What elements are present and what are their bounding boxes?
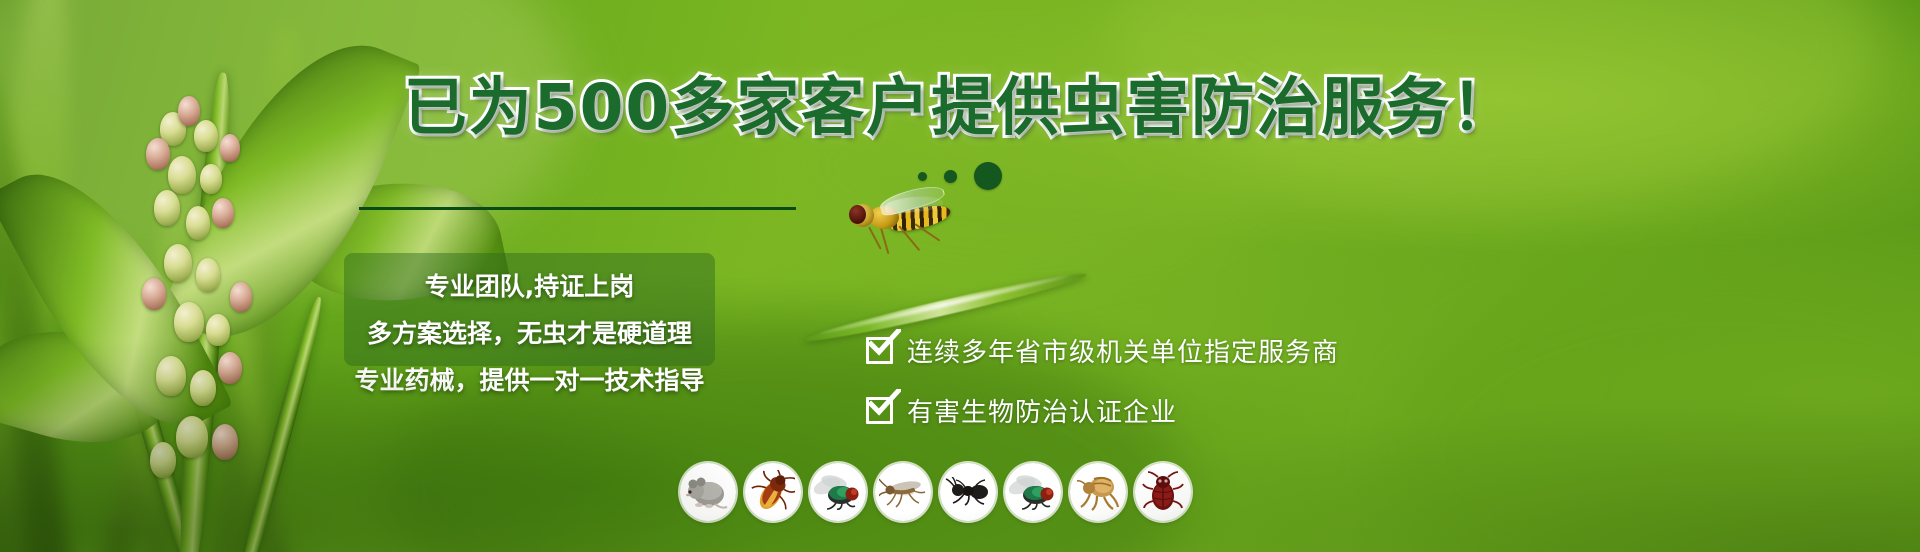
check-square-icon xyxy=(866,397,893,424)
list-item-label: 有害生物防治认证企业 xyxy=(907,392,1177,429)
promo-banner: 已为500多家客户提供虫害防治服务！ 专业团队,持证上岗 多方案选择，无虫才是硬… xyxy=(0,0,1920,552)
list-item: 连续多年省市级机关单位指定服务商 xyxy=(866,333,1339,367)
divider xyxy=(359,207,796,210)
bedbug-icon[interactable] xyxy=(1135,463,1191,521)
decorative-dots xyxy=(0,162,1920,190)
mosquito-icon[interactable] xyxy=(875,463,931,521)
page-title: 已为500多家客户提供虫害防治服务！ xyxy=(0,76,1920,139)
list-item: 有害生物防治认证企业 xyxy=(866,393,1339,427)
cockroach-icon[interactable] xyxy=(745,463,801,521)
fly-icon[interactable] xyxy=(810,463,866,521)
ant-icon[interactable] xyxy=(940,463,996,521)
credentials-list: 连续多年省市级机关单位指定服务商 有害生物防治认证企业 xyxy=(866,333,1339,453)
slogan-line-1: 专业团队,持证上岗 xyxy=(344,267,715,303)
pest-icon-strip xyxy=(680,463,1191,521)
slogan-panel: 专业团队,持证上岗 多方案选择，无虫才是硬道理 专业药械，提供一对一技术指导 xyxy=(344,253,715,366)
list-item-label: 连续多年省市级机关单位指定服务商 xyxy=(907,332,1339,369)
flea-icon[interactable] xyxy=(1070,463,1126,521)
dot-medium-icon xyxy=(944,170,957,183)
slogan-line-3: 专业药械，提供一对一技术指导 xyxy=(344,361,715,397)
hoverfly-icon xyxy=(843,192,965,260)
dot-large-icon xyxy=(974,162,1002,190)
fly-icon[interactable] xyxy=(1005,463,1061,521)
dot-small-icon xyxy=(918,172,927,181)
check-square-icon xyxy=(866,337,893,364)
mouse-icon[interactable] xyxy=(680,463,736,521)
slogan-line-2: 多方案选择，无虫才是硬道理 xyxy=(344,314,715,350)
